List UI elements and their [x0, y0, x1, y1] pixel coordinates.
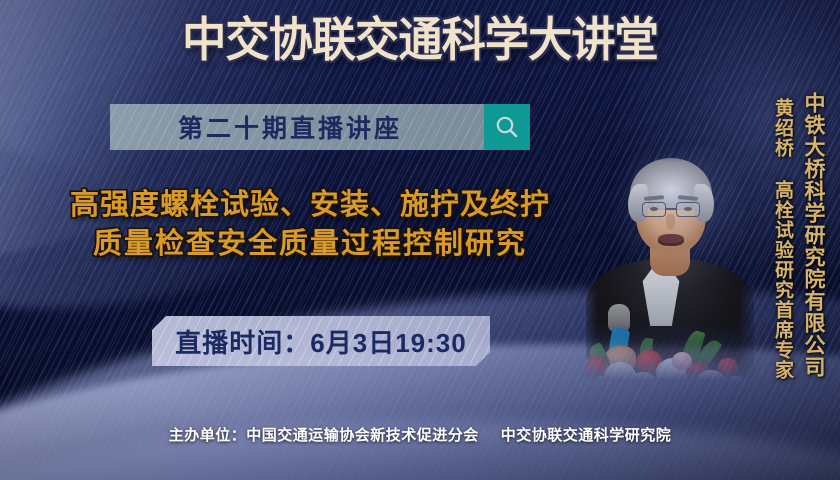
broadcast-time-badge: 直播时间：6月3日19:30 [152, 316, 490, 366]
search-button[interactable] [484, 104, 530, 150]
lecture-topic: 高强度螺栓试验、安装、施拧及终拧 质量检查安全质量过程控制研究 [10, 186, 610, 265]
lecture-topic-line1: 高强度螺栓试验、安装、施拧及终拧 [10, 186, 610, 225]
episode-bar: 第二十期直播讲座 [110, 104, 530, 150]
organizer-org-1: 中国交通运输协会新技术促进分会 [246, 427, 479, 444]
organizer-footer: 主办单位：中国交通运输协会新技术促进分会中交协联交通科学研究院 [0, 424, 840, 445]
webinar-poster: 中交协联交通科学大讲堂 第二十期直播讲座 高强度螺栓试验、安装、施拧及终拧 质量… [0, 0, 840, 480]
organizer-org-2: 中交协联交通科学研究院 [501, 427, 672, 444]
speaker-name-role: 黄绍桥 高栓试验研究首席专家 [769, 98, 796, 380]
organizer-prefix: 主办单位： [169, 427, 247, 444]
lecture-topic-line2: 质量检查安全质量过程控制研究 [10, 225, 610, 264]
speaker-organization: 中铁大桥科学研究院有限公司 [798, 92, 828, 378]
broadcast-time-text: 直播时间：6月3日19:30 [175, 323, 466, 360]
episode-label: 第二十期直播讲座 [110, 104, 484, 150]
page-title: 中交协联交通科学大讲堂 [25, 16, 815, 63]
search-icon [494, 114, 520, 140]
